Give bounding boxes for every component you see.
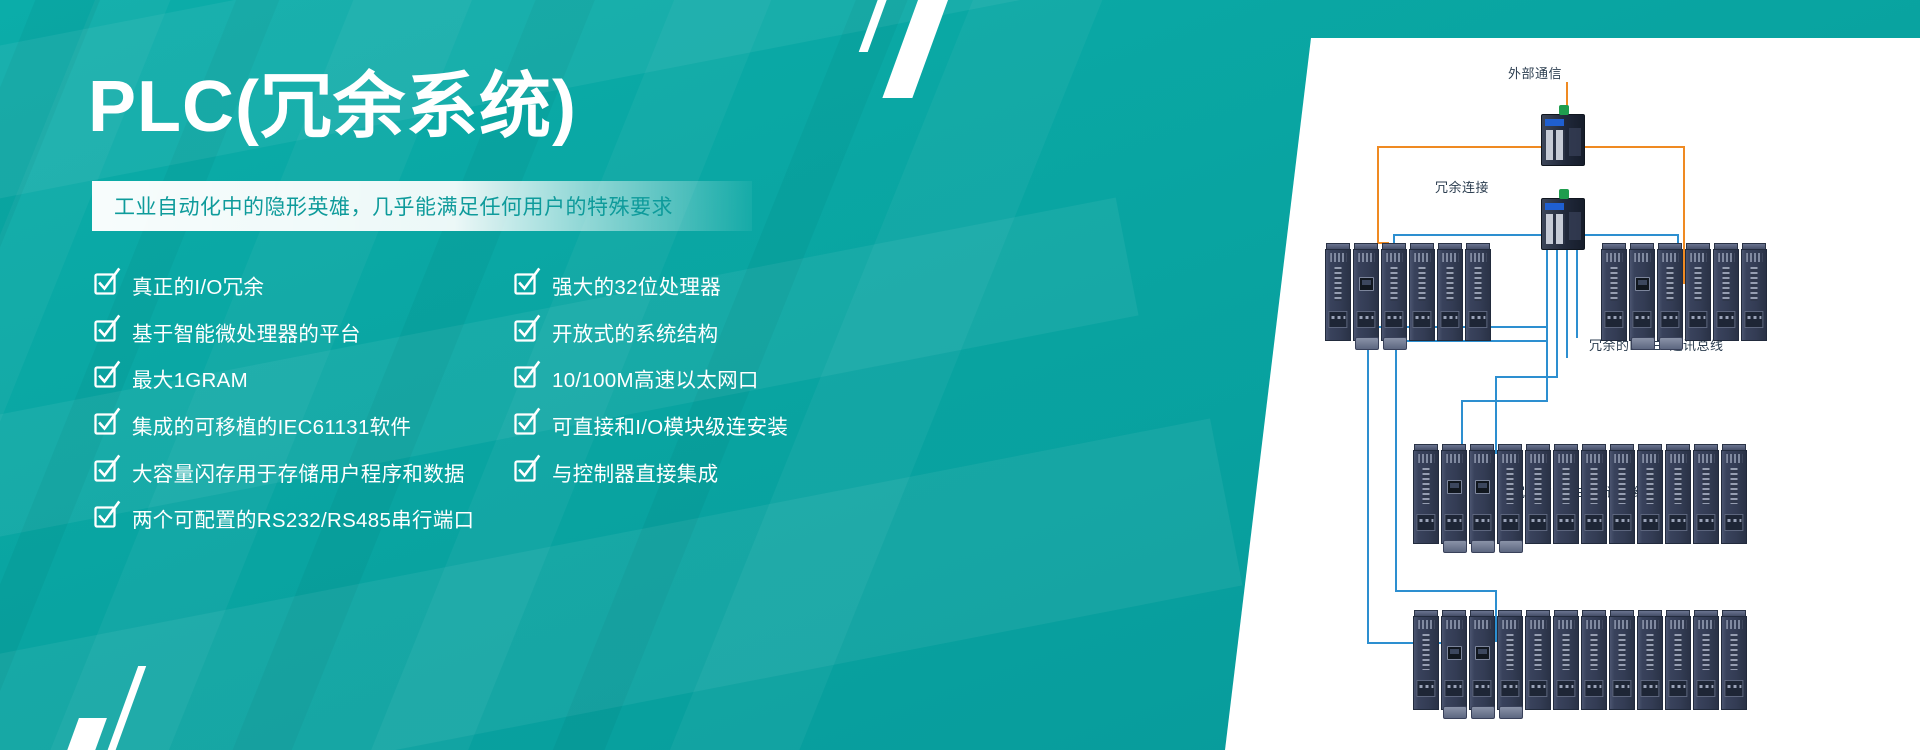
label-external-comm: 外部通信 [1508,63,1562,82]
wire-lnet-h1 [1461,400,1548,402]
checkbox-check-icon [515,273,539,297]
wire-lnet-trunk-2 [1556,250,1558,378]
feature-label: 大容量闪存用于存储用户程序和数据 [132,457,465,487]
feature-label: 10/100M高速以太网口 [552,363,759,393]
wire-external-left-drop [1377,146,1379,244]
page-title: PLC(冗余系统) [88,68,577,147]
subtitle-text: 工业自动化中的隐形英雄，几乎能满足任何用户的特殊要求 [92,191,673,221]
checkbox-check-icon [515,413,539,437]
plc-rack-io-lower [1413,610,1773,710]
feature-label: 开放式的系统结构 [552,317,718,347]
wire-redundant-bus [1393,234,1679,236]
checkbox-check-icon [515,460,539,484]
wire-lnet-trunk-3 [1566,250,1568,358]
checkbox-check-icon [515,366,539,390]
ethernet-switch-top [1541,114,1585,166]
feature-label: 可直接和I/O模块级连安装 [552,410,788,440]
feature-column-right: 强大的32位处理器 开放式的系统结构 10/10 [515,262,1035,495]
feature-label: 真正的I/O冗余 [132,270,264,300]
wire-lnet-lower2-h2 [1395,590,1497,592]
plc-rack-cpu-b [1601,243,1791,341]
plc-redundancy-diagram: 外部通信 冗余连接 冗余的L-NET通讯总线 冗余的L-NET通讯总线 [1225,38,1920,750]
feature-item: 两个可配置的RS232/RS485串行端口 [95,495,615,542]
feature-label: 两个可配置的RS232/RS485串行端口 [132,503,474,533]
feature-label: 最大1GRAM [132,363,248,393]
feature-label: 集成的可移植的IEC61131软件 [132,410,411,440]
feature-item: 开放式的系统结构 [515,309,1035,356]
subtitle-bar: 工业自动化中的隐形英雄，几乎能满足任何用户的特殊要求 [92,181,752,231]
wire-lnet-lower2-v [1395,340,1397,592]
checkbox-check-icon [95,413,119,437]
checkbox-check-icon [95,460,119,484]
wire-lnet-trunk-4 [1576,250,1578,338]
feature-item: 与控制器直接集成 [515,448,1035,495]
wire-lnet-lower-v [1367,326,1369,644]
wire-lnet-v2 [1495,376,1497,454]
plc-rack-cpu-a [1325,243,1515,341]
feature-item: 10/100M高速以太网口 [515,355,1035,402]
checkbox-check-icon [515,320,539,344]
feature-label: 强大的32位处理器 [552,270,721,300]
checkbox-check-icon [95,273,119,297]
feature-label: 与控制器直接集成 [552,457,718,487]
banner-stage: PLC(冗余系统) 工业自动化中的隐形英雄，几乎能满足任何用户的特殊要求 真正的… [0,0,1920,750]
ethernet-switch-redundant [1541,198,1585,250]
checkbox-check-icon [95,320,119,344]
feature-item: 强大的32位处理器 [515,262,1035,309]
label-redundant-link: 冗余连接 [1435,177,1489,196]
feature-label: 基于智能微处理器的平台 [132,317,361,347]
wire-lnet-h2 [1495,376,1558,378]
feature-item: 可直接和I/O模块级连安装 [515,402,1035,449]
checkbox-check-icon [95,506,119,530]
wire-external-bus [1377,146,1685,148]
plc-rack-io-upper [1413,444,1773,544]
checkbox-check-icon [95,366,119,390]
